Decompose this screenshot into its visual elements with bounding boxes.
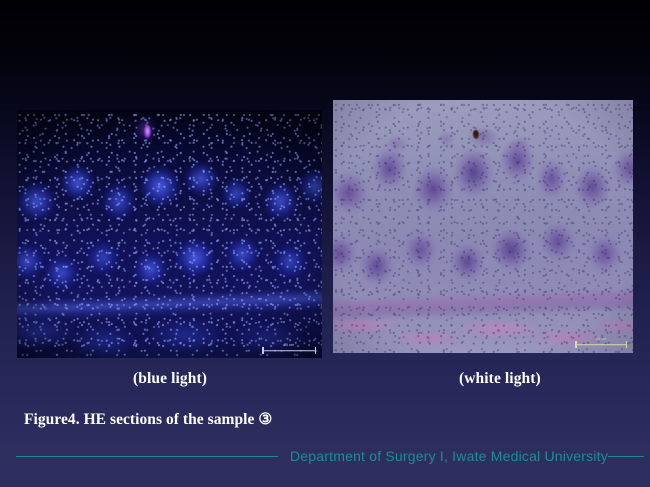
scale-bar-rule-blue: [262, 349, 316, 352]
footer-rule-left: [16, 456, 278, 457]
scale-bar-blue: 20 um: [262, 344, 316, 352]
scale-bar-white: 20 um: [575, 338, 627, 346]
micrograph-white-light[interactable]: 20 um: [333, 100, 633, 353]
panel-caption-blue-light: (blue light): [133, 370, 207, 388]
scale-bar-label-white: 20 um: [596, 338, 606, 342]
panel-caption-white-light: (white light): [459, 370, 541, 388]
footer-institution: Department of Surgery I, Iwate Medical U…: [290, 448, 608, 464]
scale-bar-cap-right-white: [626, 341, 628, 348]
footer-rule-right: [608, 456, 644, 457]
micrograph-blue-light[interactable]: 20 um: [17, 110, 322, 358]
presentation-slide: 20 um 20 um (blue light) (white light) F…: [0, 0, 650, 487]
vignette-white: [333, 100, 633, 353]
figure-caption: Figure4. HE sections of the sample ③: [24, 410, 272, 429]
vignette-blue: [17, 110, 322, 358]
scale-bar-cap-left-blue: [262, 347, 264, 354]
scale-bar-cap-left-white: [575, 341, 577, 348]
scale-bar-rule-white: [575, 343, 627, 346]
scale-bar-cap-right-blue: [315, 347, 317, 354]
scale-bar-label-blue: 20 um: [284, 344, 294, 348]
